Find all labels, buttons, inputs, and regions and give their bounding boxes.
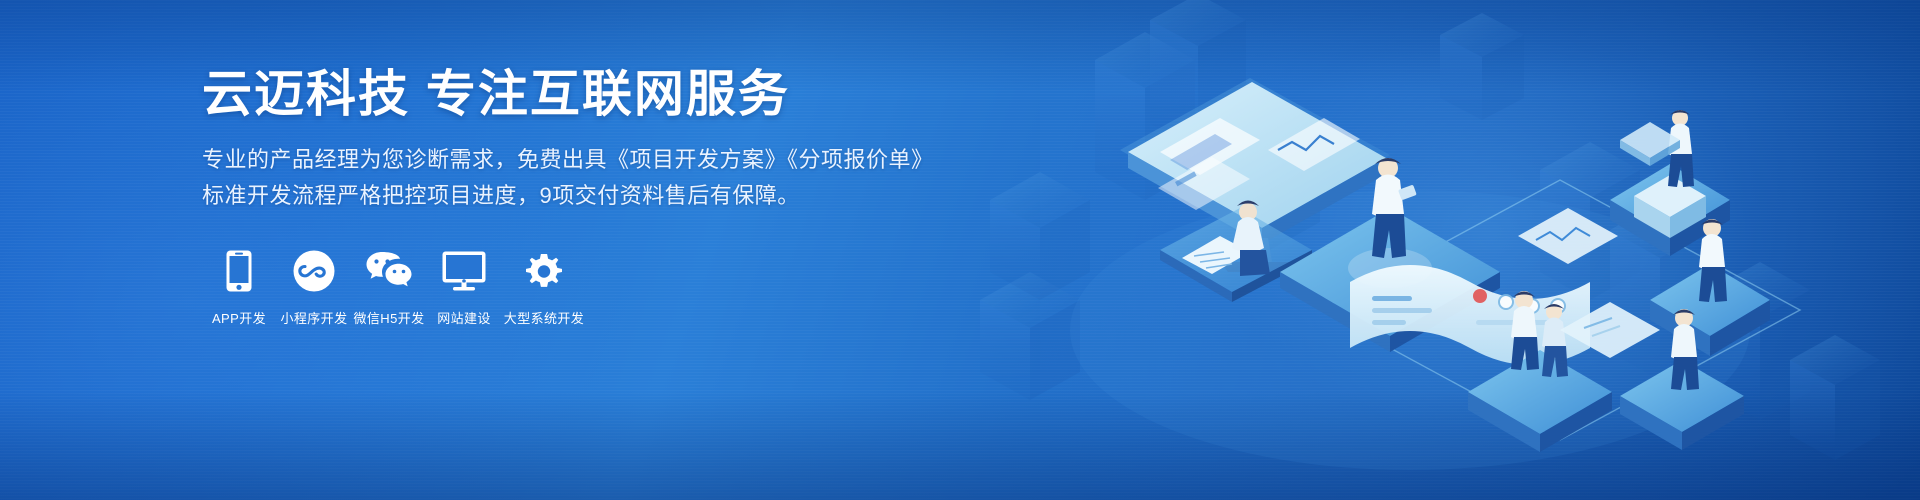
isometric-illustration: [920, 0, 1920, 500]
service-label-large-system: 大型系统开发: [504, 308, 584, 327]
service-item-mini-program[interactable]: 小程序开发: [277, 248, 351, 327]
subtitle-line-1: 专业的产品经理为您诊断需求，免费出具《项目开发方案》《分项报价单》: [202, 142, 902, 178]
gear-icon: [523, 248, 565, 294]
service-item-wechat[interactable]: 微信H5开发: [352, 248, 426, 327]
service-item-website[interactable]: 网站建设: [427, 248, 501, 327]
page-title: 云迈科技 专注互联网服务: [202, 66, 902, 124]
subtitle-line-2: 标准开发流程严格把控项目进度，9项交付资料售后有保障。: [202, 178, 902, 214]
mobile-phone-icon: [226, 248, 252, 294]
hero-banner: 云迈科技 专注互联网服务 专业的产品经理为您诊断需求，免费出具《项目开发方案》《…: [0, 0, 1920, 500]
wechat-icon: [365, 248, 413, 294]
mini-program-icon: [293, 248, 335, 294]
service-list: APP开发 小程序开发: [202, 248, 902, 327]
hero-content: 云迈科技 专注互联网服务 专业的产品经理为您诊断需求，免费出具《项目开发方案》《…: [202, 66, 902, 327]
monitor-icon: [442, 248, 486, 294]
service-item-app[interactable]: APP开发: [202, 248, 276, 327]
service-item-large-system[interactable]: 大型系统开发: [502, 248, 586, 327]
service-label-wechat: 微信H5开发: [353, 308, 424, 327]
service-label-mini-program: 小程序开发: [280, 308, 347, 327]
service-label-website: 网站建设: [437, 308, 491, 327]
service-label-app: APP开发: [212, 308, 266, 327]
